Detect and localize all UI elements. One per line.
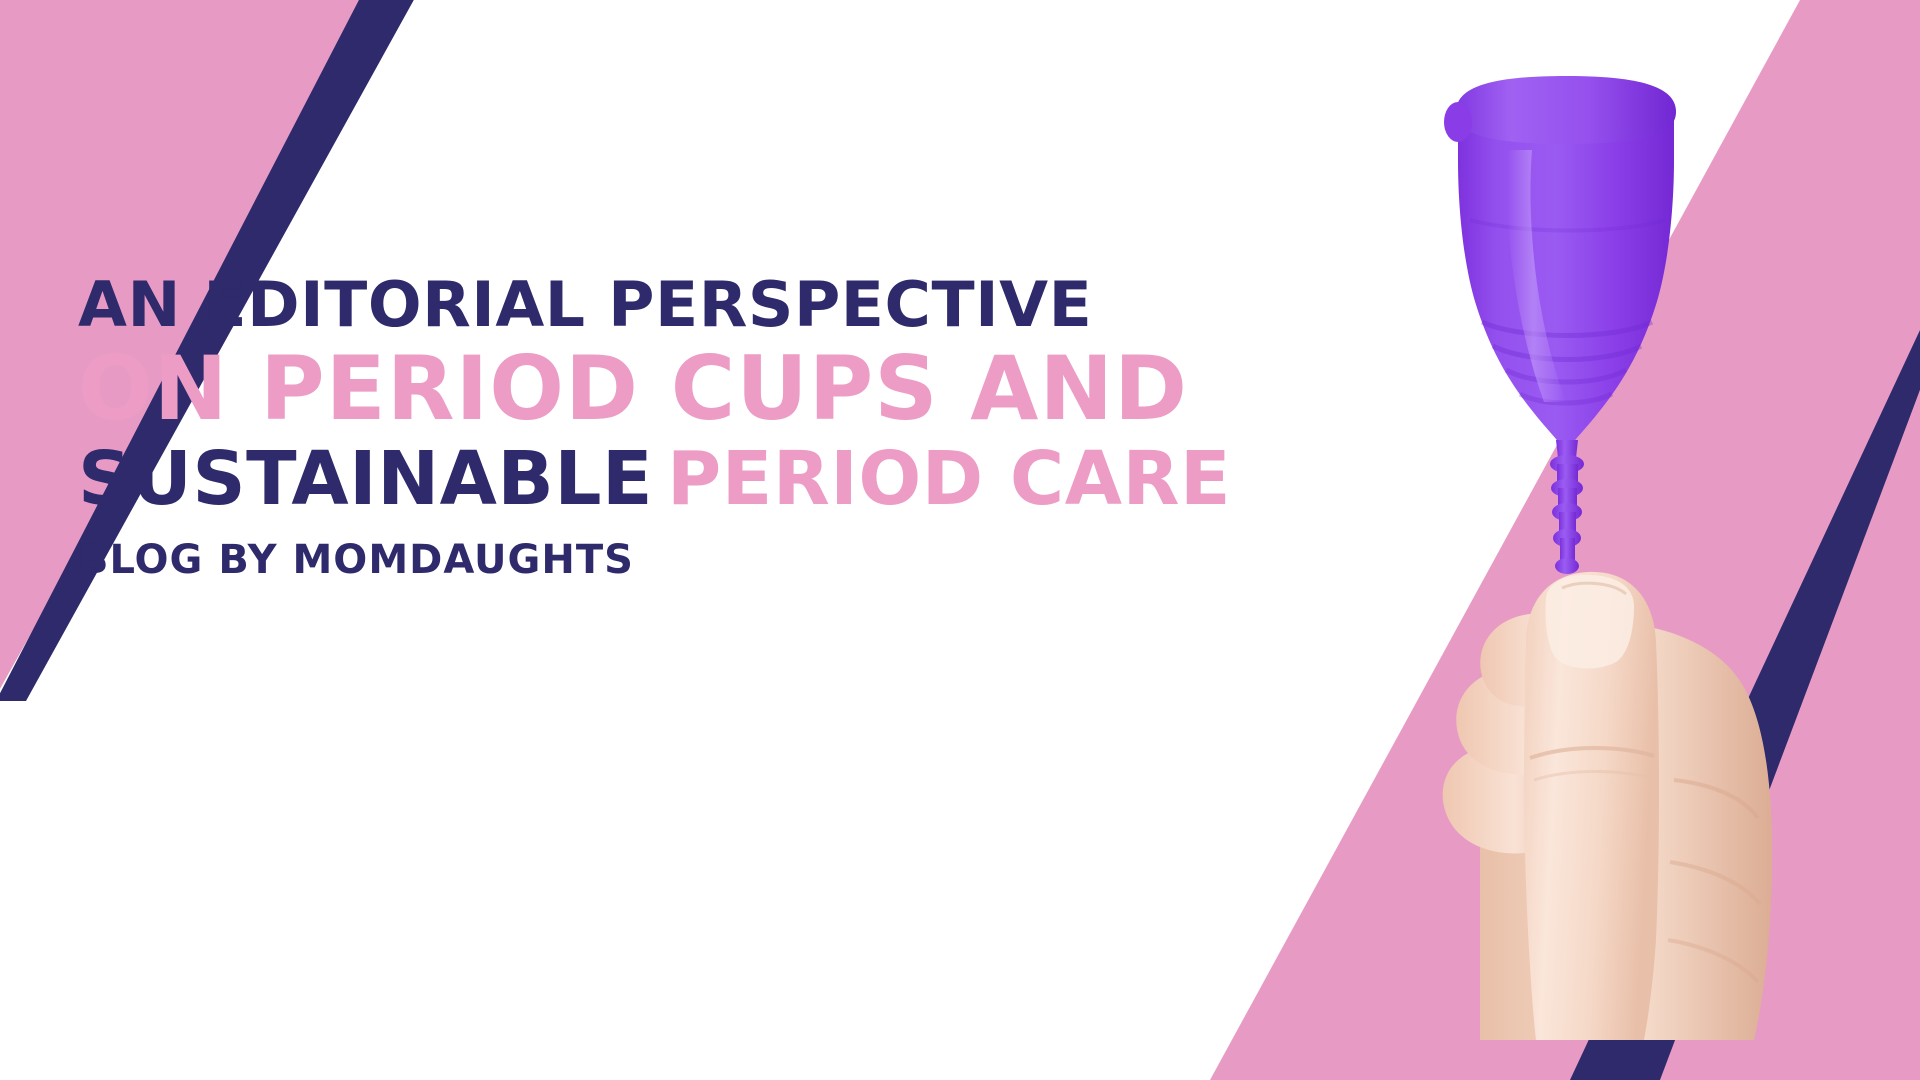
hand-holding-cup-icon [1330,40,1800,1040]
blog-banner: AN EDITORIAL PERSPECTIVE ON PERIOD CUPS … [0,0,1920,1080]
headline-line-2: ON PERIOD CUPS AND [78,342,1198,436]
headline-line-3-pink-segment: PERIOD CARE [667,436,1231,522]
byline: BLOG BY MOMDAUGHTS [78,538,1198,582]
headline-line-1: AN EDITORIAL PERSPECTIVE [78,268,1220,342]
headline-line-3: SUSTAINABLEPERIOD CARE [78,436,1198,522]
headline-line-3-navy-segment: SUSTAINABLE [78,436,653,522]
headline-block: AN EDITORIAL PERSPECTIVE ON PERIOD CUPS … [78,268,1198,582]
product-photo [1330,40,1800,1040]
